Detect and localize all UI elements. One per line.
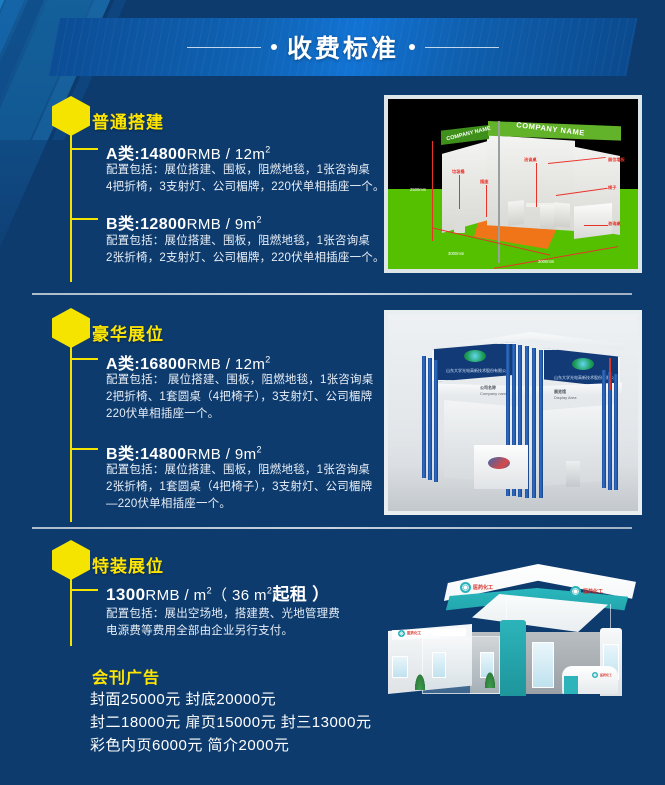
price-area-unit: m	[244, 216, 257, 233]
price-exponent: 2	[256, 445, 261, 455]
callout-chair: 椅子	[608, 185, 616, 191]
marker-stem-deluxe	[70, 346, 72, 522]
ad-line-3: 彩色内页6000元 简介2000元	[90, 734, 289, 755]
ad-line-1: 封面25000元 封底20000元	[90, 688, 276, 709]
deluxe-band-right-sub: Display Area	[554, 395, 576, 400]
desc-deluxe-b-line2: 2张折椅，1套圆桌（4把椅子），3支射灯、公司楣牌	[106, 479, 372, 496]
page-title: 收费标准	[287, 29, 399, 65]
desc-deluxe-b-line1: 配置包括：展位搭建、围板，阻燃地毯，1张咨询桌	[106, 462, 370, 479]
item-tick	[72, 448, 98, 450]
hexagon-icon	[52, 540, 90, 580]
price-area-unit: m	[252, 356, 265, 373]
deluxe-sign-text-left: 山东大学光电高新技术股份有限公司	[446, 368, 510, 374]
price-exponent: 2	[256, 215, 261, 225]
title-dot-right	[409, 44, 415, 50]
callout-socket: 插座	[480, 179, 488, 185]
price-exponent: 2	[265, 355, 270, 365]
price-unit: RMB / 9	[187, 446, 244, 463]
price-custom: 1300RMB / m2（ 36 m2起租 ）	[106, 580, 330, 605]
hexagon-icon	[52, 96, 90, 136]
item-tick	[72, 218, 98, 220]
section-title-deluxe: 豪华展位	[92, 320, 164, 345]
price-standard-b: B类:12800RMB / 9m2	[106, 210, 262, 234]
desc-standard-a-line1: 配置包括：展位搭建、围板，阻燃地毯，1张咨询桌	[106, 162, 370, 179]
deluxe-band-left-sub: Company name	[480, 391, 508, 396]
price-area-unit: m	[244, 446, 257, 463]
custom-logo-canopy-left: 医药化工	[473, 584, 493, 591]
price-exponent: 2	[265, 145, 270, 155]
deluxe-desk-logo	[488, 457, 510, 469]
custom-logo-canopy-right: 医药化工	[583, 588, 603, 595]
price-deluxe-a: A类:16800RMB / 12m2	[106, 350, 271, 374]
deluxe-booth-image: 山东大学光电高新技术股份有限公司 山东大学光电高新技术股份有限公司 公司名称 C…	[384, 310, 642, 515]
dimension-depth: 3000mm	[448, 251, 464, 256]
item-tick	[72, 148, 98, 150]
standard-booth-image: COMPANY NAME COMPANY NAME 2500mm 3000mm …	[384, 95, 642, 273]
price-amount: 1300	[106, 585, 145, 604]
desc-deluxe-b-line3: —220伏单相插座一个。	[106, 496, 231, 513]
ad-block-title: 会刊广告	[92, 664, 160, 688]
section-title-custom: 特装展位	[92, 552, 164, 577]
title-rule-right	[425, 47, 499, 48]
dimension-width: 3000mm	[538, 259, 554, 264]
logo-mark-icon	[592, 672, 598, 678]
price-unit: RMB / 12	[187, 356, 253, 373]
custom-logo-counter: 医药化工	[600, 673, 612, 677]
logo-mark-icon	[460, 582, 471, 593]
price-deluxe-b: B类:14800RMB / 9m2	[106, 440, 262, 464]
callout-trash-bin: 垃圾桶	[452, 169, 465, 175]
price-unit: RMB / 12	[187, 146, 253, 163]
price-suffix-tail: 起租 ）	[272, 585, 329, 604]
header-title-row: 收费标准	[54, 18, 632, 76]
section-divider	[32, 293, 632, 295]
desc-custom-line2: 电源费等费用全部由企业另行支付。	[106, 623, 293, 640]
desc-standard-b-line2: 2张折椅，2支射灯、公司楣牌，220伏单相插座一个。	[106, 250, 385, 267]
desc-standard-a-line2: 4把折椅，3支射灯、公司楣牌，220伏单相插座一个。	[106, 179, 385, 196]
hexagon-icon	[52, 308, 90, 348]
custom-booth-image: 医药化工 医药化工 医药化工 医药化工	[384, 560, 656, 755]
price-amount: 14800	[140, 146, 187, 163]
callout-negotiation-table: 洽谈桌	[524, 157, 537, 163]
item-tick	[72, 589, 98, 591]
dimension-height: 2500mm	[410, 187, 426, 192]
section-marker-standard	[52, 96, 90, 136]
callout-reception-desk: 咨询桌	[608, 221, 621, 227]
title-dot-left	[271, 44, 277, 50]
item-tick	[72, 358, 98, 360]
marker-stem-standard	[70, 134, 72, 282]
ad-line-2: 封二18000元 扉页15000元 封三13000元	[90, 711, 371, 732]
price-suffix: （ 36 m	[212, 587, 267, 604]
section-marker-custom	[52, 540, 90, 580]
price-amount: 12800	[140, 216, 187, 233]
desc-deluxe-a-line2: 2把折椅、1套圆桌（4把椅子），3支射灯、公司楣牌	[106, 389, 372, 406]
desc-deluxe-a-line3: 220伏单相插座一个。	[106, 406, 219, 423]
desc-deluxe-a-line1: 配置包括： 展位搭建、围板，阻燃地毯，1张咨询桌	[106, 372, 373, 389]
price-label: B类	[106, 446, 134, 463]
price-label: A类	[106, 146, 134, 163]
price-label: A类	[106, 356, 134, 373]
desc-custom-line1: 配置包括：展出空场地，搭建费、光地管理费	[106, 606, 340, 623]
price-label: B类	[106, 216, 134, 233]
price-amount: 14800	[140, 446, 187, 463]
price-amount: 16800	[140, 356, 187, 373]
price-standard-a: A类:14800RMB / 12m2	[106, 140, 271, 164]
price-area-unit: m	[194, 587, 207, 604]
price-unit: RMB / 9	[187, 216, 244, 233]
price-unit: RMB /	[145, 587, 193, 604]
section-title-standard: 普通搭建	[92, 108, 164, 133]
logo-mark-icon	[570, 586, 581, 597]
section-marker-deluxe	[52, 308, 90, 348]
title-rule-left	[187, 47, 261, 48]
callout-wall-panel: 展位墙板	[608, 157, 625, 163]
price-area-unit: m	[252, 146, 265, 163]
desc-standard-b-line1: 配置包括：展位搭建、围板，阻燃地毯，1张咨询桌	[106, 233, 370, 250]
custom-logo-left: 医药化工	[407, 631, 421, 636]
logo-mark-icon	[398, 630, 405, 637]
section-divider	[32, 527, 632, 529]
